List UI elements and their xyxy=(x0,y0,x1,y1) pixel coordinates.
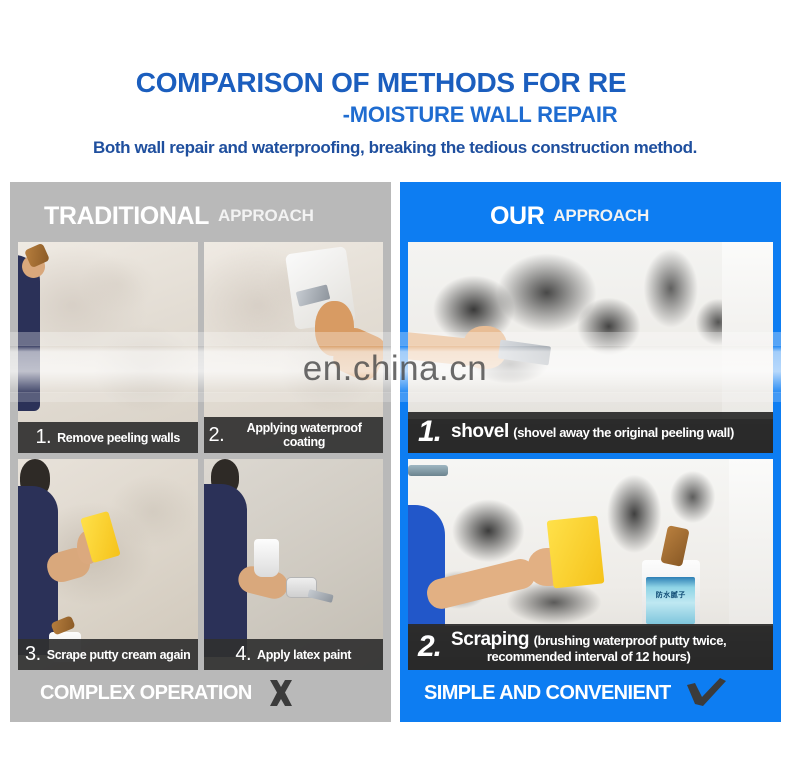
our-step-2-strong: Scraping xyxy=(451,629,529,650)
our-step-2-number: 2. xyxy=(418,632,441,662)
our-step-1-number: 1. xyxy=(418,417,441,447)
x-mark-icon xyxy=(266,678,296,708)
our-step-1-body: shovel (shovel away the original peeling… xyxy=(451,421,734,443)
page-subtitle: Both wall repair and waterproofing, brea… xyxy=(0,138,790,158)
page-title-line-2: -MOISTURE WALL REPAIR xyxy=(0,100,790,130)
page-title-line-1: COMPARISON OF METHODS FOR RE xyxy=(0,66,790,100)
traditional-step-2-cell: 2. Applying waterproof coating xyxy=(204,242,384,453)
our-heading-strong: OUR xyxy=(490,202,544,231)
comparison-panels: TRADITIONAL APPROACH 1. Remove peeling w… xyxy=(0,182,790,727)
traditional-footer-text: COMPLEX OPERATION xyxy=(40,682,252,705)
traditional-step-4-cell: 4. Apply latex paint xyxy=(204,459,384,670)
traditional-approach-panel: TRADITIONAL APPROACH 1. Remove peeling w… xyxy=(10,182,391,722)
page-header: COMPARISON OF METHODS FOR RE -MOISTURE W… xyxy=(0,0,790,158)
traditional-step-3-caption: 3. Scrape putty cream again xyxy=(18,639,198,670)
bucket-label-text: 防水腻子 xyxy=(646,592,695,600)
our-step-2-detail-line-2: recommended interval of 12 hours) xyxy=(451,649,726,664)
traditional-step-3-cell: 3. Scrape putty cream again xyxy=(18,459,198,670)
our-footer-text: SIMPLE AND CONVENIENT xyxy=(424,682,671,705)
traditional-grid-row-1: 1. Remove peeling walls 2. Applying wate xyxy=(18,242,383,453)
traditional-step-3-number: 3. xyxy=(25,643,41,666)
shovel-blade xyxy=(498,340,551,366)
worker-torso xyxy=(18,255,40,411)
check-mark-icon xyxy=(685,678,727,708)
our-step-1-detail: (shovel away the original peeling wall) xyxy=(513,425,734,440)
our-photo-stack: 1. shovel (shovel away the original peel… xyxy=(408,242,773,670)
roller-rod xyxy=(307,589,333,603)
traditional-step-1-caption: 1. Remove peeling walls xyxy=(18,422,198,453)
traditional-step-2-caption: 2. Applying waterproof coating xyxy=(204,417,384,453)
traditional-step-4-caption: 4. Apply latex paint xyxy=(204,639,384,670)
traditional-panel-footer: COMPLEX OPERATION xyxy=(18,670,383,716)
our-step-2-cell: 防水腻子 2. Scraping (brushing waterproof pu… xyxy=(408,459,773,670)
traditional-photo-grid: 1. Remove peeling walls 2. Applying wate xyxy=(18,242,383,670)
our-step-1-caption: 1. shovel (shovel away the original peel… xyxy=(408,412,773,453)
our-approach-panel: OUR APPROACH 1. shovel (shovel away the … xyxy=(400,182,781,722)
traditional-step-4-text: Apply latex paint xyxy=(257,648,351,662)
traditional-heading-light: APPROACH xyxy=(218,206,314,226)
traditional-panel-heading: TRADITIONAL APPROACH xyxy=(18,190,383,242)
our-step-2-body: Scraping (brushing waterproof putty twic… xyxy=(451,629,726,664)
our-panel-footer: SIMPLE AND CONVENIENT xyxy=(408,670,773,716)
traditional-step-1-number: 1. xyxy=(35,426,51,449)
traditional-step-1-cell: 1. Remove peeling walls xyxy=(18,242,198,453)
traditional-heading-strong: TRADITIONAL xyxy=(44,202,209,231)
traditional-step-3-text: Scrape putty cream again xyxy=(47,648,191,662)
our-step-1-strong: shovel xyxy=(451,421,509,442)
our-step-1-cell: 1. shovel (shovel away the original peel… xyxy=(408,242,773,453)
traditional-step-1-text: Remove peeling walls xyxy=(57,431,180,445)
our-heading-light: APPROACH xyxy=(553,206,649,226)
paint-bucket xyxy=(254,539,279,577)
our-step-2-detail: (brushing waterproof putty twice, xyxy=(534,633,727,648)
traditional-step-4-number: 4. xyxy=(235,643,251,666)
yellow-putty-scraper xyxy=(547,516,605,588)
traditional-step-2-text: Applying waterproof coating xyxy=(230,421,378,449)
ceiling-pipe xyxy=(408,465,448,476)
traditional-grid-row-2: 3. Scrape putty cream again xyxy=(18,459,383,670)
our-step-2-caption: 2. Scraping (brushing waterproof putty t… xyxy=(408,624,773,670)
our-panel-heading: OUR APPROACH xyxy=(408,190,773,242)
traditional-step-2-number: 2. xyxy=(209,424,225,447)
bucket-label: 防水腻子 xyxy=(646,577,695,624)
